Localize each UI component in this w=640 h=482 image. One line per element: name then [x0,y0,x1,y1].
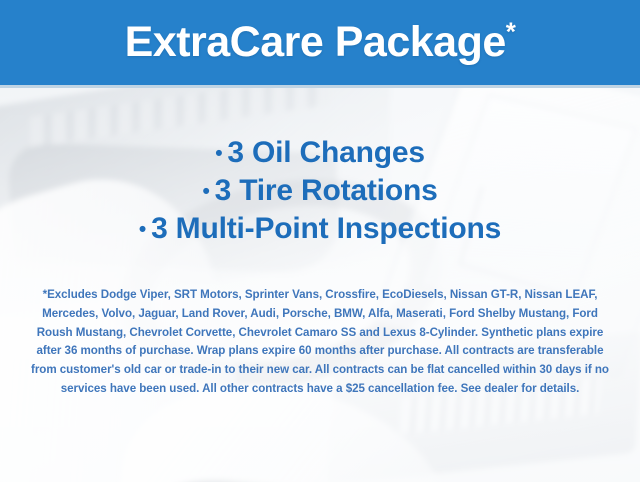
list-item-label: 3 Tire Rotations [215,174,438,207]
list-item-label: 3 Oil Changes [227,136,424,169]
bullet-dot-icon: • [215,142,227,165]
list-item: •3 Tire Rotations [0,172,640,210]
list-item: •3 Multi-Point Inspections [0,210,640,248]
disclaimer-text: *Excludes Dodge Viper, SRT Motors, Sprin… [28,286,612,399]
list-item-label: 3 Multi-Point Inspections [151,212,501,245]
header-banner: ExtraCare Package* [0,0,640,88]
asterisk-marker: * [506,17,516,47]
bullet-dot-icon: • [139,218,151,241]
list-item: •3 Oil Changes [0,134,640,172]
bullet-dot-icon: • [202,180,214,203]
extracare-package-graphic: ExtraCare Package* •3 Oil Changes •3 Tir… [0,0,640,482]
page-title: ExtraCare Package* [125,21,516,64]
benefits-list: •3 Oil Changes •3 Tire Rotations •3 Mult… [0,134,640,248]
page-title-text: ExtraCare Package [125,18,506,66]
